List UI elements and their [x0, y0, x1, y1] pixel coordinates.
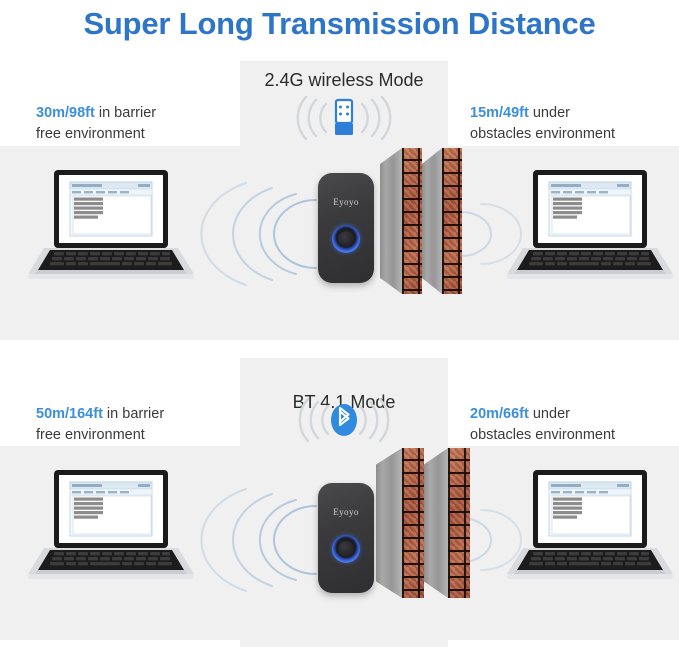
infographic-canvas: Super Long Transmission Distance 2.4G wi… — [0, 0, 679, 647]
scanner-button-ring-bottom — [332, 535, 360, 563]
caption-top-left-rest: in barrier — [95, 105, 156, 121]
laptop-top-left — [26, 168, 196, 291]
scanner-brand-logo-bottom: Eyoyo — [318, 507, 374, 517]
caption-bottom-right-line2: obstacles environment — [470, 425, 615, 446]
bluetooth-badge — [240, 398, 448, 446]
caption-bottom-left-line2: free environment — [36, 425, 164, 446]
caption-top-right: 15m/49ft under obstacles environment — [470, 103, 615, 145]
page-title: Super Long Transmission Distance — [0, 0, 679, 48]
scanner-brand-logo-top: Eyoyo — [318, 197, 374, 207]
distance-value-top-right: 15m/49ft — [470, 105, 529, 121]
distance-value-top-left: 30m/98ft — [36, 105, 95, 121]
caption-top-left-line2: free environment — [36, 124, 156, 145]
usb-dongle-badge — [240, 96, 448, 144]
usb-dongle-icon — [274, 96, 414, 140]
barcode-scanner-top: Eyoyo — [318, 173, 374, 283]
caption-top-right-line2: obstacles environment — [470, 124, 615, 145]
caption-top-right-rest: under — [529, 105, 570, 121]
caption-top-left: 30m/98ft in barrier free environment — [36, 103, 156, 145]
caption-bottom-right: 20m/66ft under obstacles environment — [470, 404, 615, 446]
caption-bottom-left: 50m/164ft in barrier free environment — [36, 404, 164, 446]
caption-bottom-right-rest: under — [529, 406, 570, 422]
brick-wall-top — [380, 148, 464, 294]
laptop-bottom-left — [26, 468, 196, 591]
mode-label-24g: 2.4G wireless Mode — [240, 70, 448, 91]
distance-value-bottom-left: 50m/164ft — [36, 406, 103, 422]
scanner-button-ring-top — [332, 225, 360, 253]
laptop-top-right — [505, 168, 675, 291]
caption-bottom-left-rest: in barrier — [103, 406, 164, 422]
brick-wall-bottom — [376, 448, 472, 598]
distance-value-bottom-right: 20m/66ft — [470, 406, 529, 422]
laptop-bottom-right — [505, 468, 675, 591]
bluetooth-icon — [274, 398, 414, 442]
barcode-scanner-bottom: Eyoyo — [318, 483, 374, 593]
